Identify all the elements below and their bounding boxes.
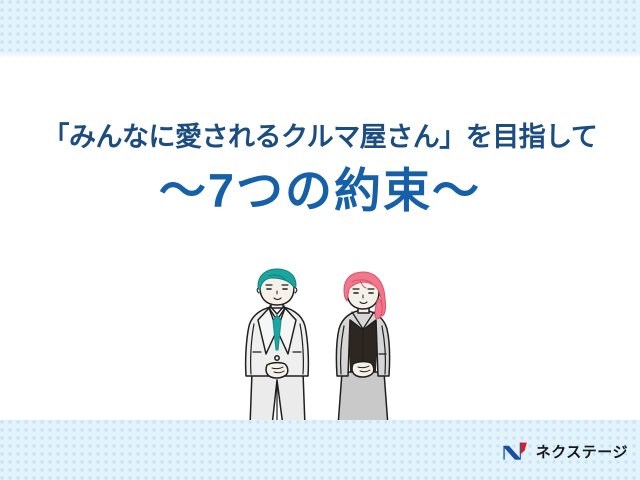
headline-block: 「みんなに愛されるクルマ屋さん」を目指して 〜7つの約束〜 <box>0 118 640 220</box>
male-staff-figure <box>246 269 309 426</box>
female-staff-figure <box>336 272 389 426</box>
two-staff-illustration <box>236 268 416 428</box>
nexstage-logo: ネクステージ <box>503 438 628 464</box>
staff-illustration-svg <box>236 268 416 428</box>
nexstage-n-mark-icon <box>503 440 529 462</box>
slide-subtitle: 「みんなに愛されるクルマ屋さん」を目指して <box>0 118 640 156</box>
slide-headline: 〜7つの約束〜 <box>0 162 640 220</box>
top-dotted-band <box>0 0 640 58</box>
nexstage-logo-text: ネクステージ <box>536 441 628 462</box>
slide-canvas: 「みんなに愛されるクルマ屋さん」を目指して 〜7つの約束〜 <box>0 0 640 480</box>
